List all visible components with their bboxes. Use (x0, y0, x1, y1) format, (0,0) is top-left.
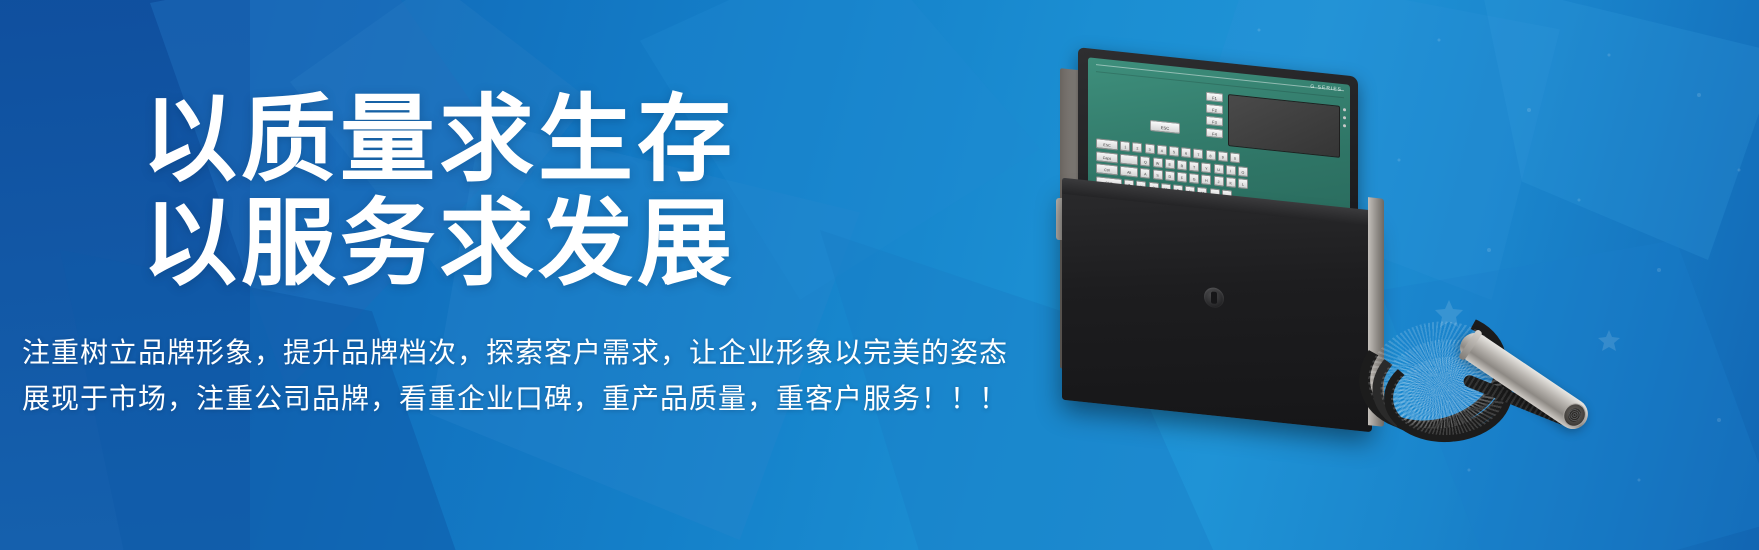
key-o[interactable]: O (1238, 166, 1248, 177)
key-8[interactable]: 8 (1206, 150, 1216, 161)
key-1[interactable]: 1 (1120, 141, 1130, 152)
key-ctrl[interactable]: Ctrl (1096, 163, 1118, 175)
key-g[interactable]: G (1189, 173, 1199, 184)
key-alt[interactable]: Alt (1120, 166, 1138, 178)
key-f[interactable]: F (1177, 172, 1187, 183)
key-9[interactable]: 9 (1218, 151, 1228, 162)
key-3[interactable]: 3 (1145, 143, 1155, 154)
key-j[interactable]: J (1214, 176, 1224, 187)
key-i[interactable]: I (1226, 164, 1236, 175)
key-5[interactable]: 5 (1169, 146, 1179, 157)
key-y[interactable]: Y (1201, 162, 1211, 173)
printer-cabinet (1062, 190, 1372, 433)
promotional-banner: 以质量求生存 以服务求发展 注重树立品牌形象，提升品牌档次，探索客户需求，让企业… (0, 0, 1759, 550)
key-e[interactable]: E (1165, 158, 1175, 169)
key-f2[interactable]: F2 (1206, 104, 1223, 115)
inkjet-printer-product-image: G SERIES F1 F2 F3 F4 ESC ESC 1 2 (1020, 48, 1580, 498)
key-r[interactable]: R (1177, 159, 1187, 170)
body-copy: 注重树立品牌形象，提升品牌档次，探索客户需求，让企业形象以完美的姿态 展现于市场… (22, 330, 1008, 422)
key-h[interactable]: H (1201, 174, 1211, 185)
printer-lcd-screen (1228, 94, 1340, 158)
key-q[interactable]: Q (1140, 155, 1150, 166)
key-f3[interactable]: F3 (1206, 116, 1223, 127)
headline-line-2: 以服务求发展 (142, 196, 736, 292)
key-tab[interactable] (1120, 153, 1138, 165)
headline-line-1: 以质量求生存 (142, 92, 736, 188)
key-f1[interactable]: F1 (1206, 92, 1223, 103)
key-2[interactable]: 2 (1132, 142, 1142, 153)
key-6[interactable]: 6 (1181, 147, 1191, 158)
key-esc[interactable]: ESC (1096, 138, 1118, 150)
key-0[interactable]: 0 (1230, 152, 1240, 163)
key-d[interactable]: D (1165, 171, 1175, 182)
cabinet-lock-latch[interactable] (1204, 287, 1224, 309)
body-line-2: 展现于市场，注重公司品牌，看重企业口碑，重产品质量，重客户服务！！！ (22, 376, 1008, 422)
function-key-column: F1 F2 F3 F4 (1206, 92, 1223, 142)
key-4[interactable]: 4 (1157, 145, 1167, 156)
key-w[interactable]: W (1153, 157, 1163, 168)
printer-led-indicators (1343, 108, 1346, 132)
printhead-conduit-cable (1350, 298, 1600, 468)
key-7[interactable]: 7 (1193, 148, 1203, 159)
key-caps[interactable]: Caps (1096, 151, 1118, 163)
key-k[interactable]: K (1226, 177, 1236, 188)
key-esc-large[interactable]: ESC (1150, 120, 1180, 134)
body-line-1: 注重树立品牌形象，提升品牌档次，探索客户需求，让企业形象以完美的姿态 (22, 330, 1008, 376)
key-s[interactable]: S (1153, 169, 1163, 180)
key-u[interactable]: U (1214, 163, 1224, 174)
headline: 以质量求生存 以服务求发展 (142, 92, 736, 292)
key-l[interactable]: L (1238, 178, 1248, 189)
key-f4[interactable]: F4 (1206, 128, 1223, 139)
key-a[interactable]: A (1140, 168, 1150, 179)
key-t[interactable]: T (1189, 161, 1199, 172)
